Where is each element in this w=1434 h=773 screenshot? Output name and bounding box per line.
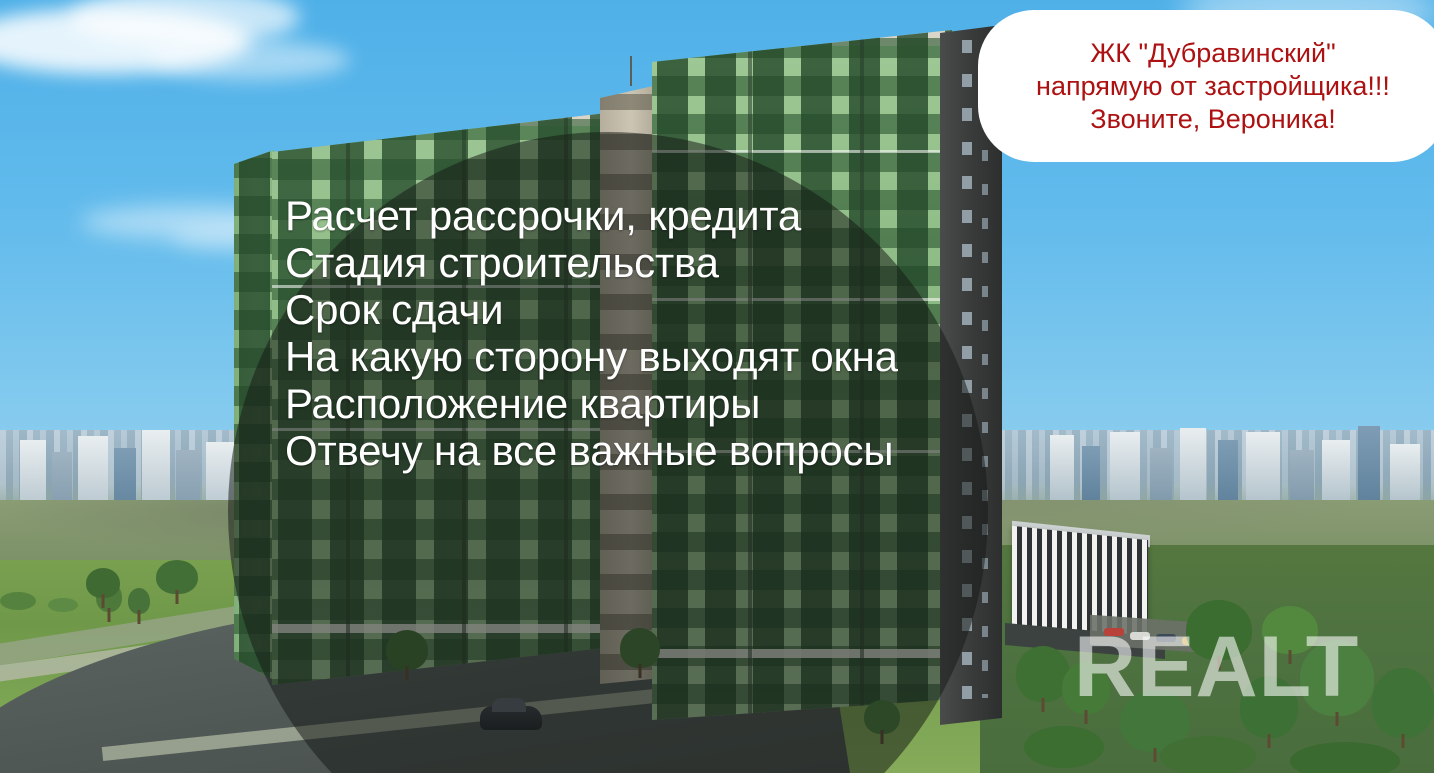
feature-list-overlay: Расчет рассрочки, кредита Стадия строите…	[285, 192, 1045, 474]
shrub	[48, 598, 78, 612]
shrub	[1160, 736, 1256, 773]
distant-building	[1322, 440, 1350, 508]
callout-line-3: Звоните, Вероника!	[1036, 103, 1390, 136]
tree	[1240, 676, 1298, 738]
feature-line-4: На какую сторону выходят окна	[285, 333, 1045, 380]
shrub	[1024, 726, 1104, 768]
callout-bubble-text: ЖК "Дубравинский" напрямую от застройщик…	[1036, 37, 1390, 136]
feature-line-3: Срок сдачи	[285, 286, 1045, 333]
callout-line-1: ЖК "Дубравинский"	[1036, 37, 1390, 70]
parked-car	[1156, 634, 1176, 642]
cloud	[150, 40, 350, 80]
facade-base-band	[652, 649, 952, 658]
facade-band	[652, 150, 952, 153]
tree	[620, 628, 660, 668]
callout-line-2: напрямую от застройщика!!!	[1036, 70, 1390, 103]
tree	[86, 568, 120, 598]
facade-base-band	[272, 624, 632, 633]
distant-building	[1082, 446, 1100, 506]
distant-building	[1050, 435, 1074, 505]
distant-building	[1358, 426, 1380, 510]
window-grid	[234, 150, 274, 680]
tree	[386, 630, 428, 670]
tree	[1062, 662, 1110, 714]
car	[480, 706, 542, 730]
feature-line-2: Стадия строительства	[285, 239, 1045, 286]
distant-building	[1390, 444, 1420, 508]
tree	[864, 700, 900, 734]
distant-building	[1180, 428, 1206, 510]
antenna	[630, 56, 632, 86]
shrub	[0, 592, 36, 610]
distant-building	[1246, 432, 1280, 510]
distant-building	[1110, 432, 1140, 508]
parked-car	[1130, 632, 1150, 640]
tree	[128, 588, 150, 614]
parked-car	[1104, 628, 1124, 636]
tree	[1372, 668, 1434, 738]
tree	[156, 560, 198, 594]
shrub	[1290, 742, 1400, 773]
callout-bubble: ЖК "Дубравинский" напрямую от застройщик…	[978, 10, 1434, 162]
building-left-wing	[234, 150, 274, 680]
feature-line-5: Расположение квартиры	[285, 380, 1045, 427]
tree	[1300, 640, 1374, 716]
advertisement-image: Расчет рассрочки, кредита Стадия строите…	[0, 0, 1434, 773]
tree	[1186, 600, 1252, 660]
feature-line-1: Расчет рассрочки, кредита	[285, 192, 1045, 239]
distant-building	[1150, 448, 1172, 508]
feature-line-6: Отвечу на все важные вопросы	[285, 427, 1045, 474]
tree	[1262, 606, 1318, 654]
